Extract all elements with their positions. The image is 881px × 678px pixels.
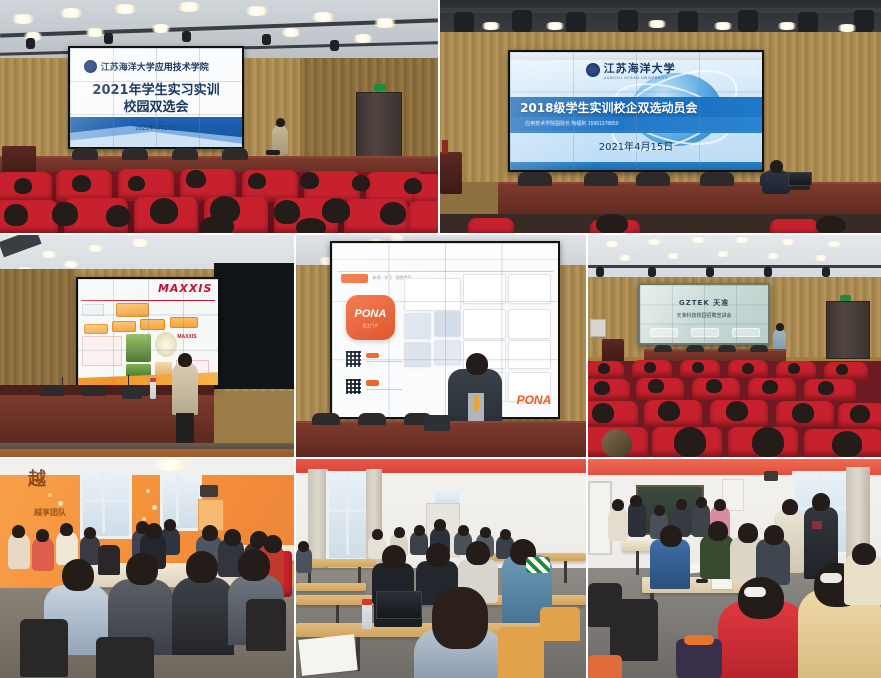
chair [588,583,622,627]
exit-sign-icon [374,84,386,91]
photo-tile-4: 新闻 · 学习 · 视频专区 PONA 员工门户 [296,235,586,457]
presentation-screen-1: 江苏海洋大学应用技术学院 2021年学生实习实训 校园双选会 2021年4月17… [68,46,244,149]
projector [200,485,218,497]
slide-2: 江苏海洋大学 JIANGSU OCEAN UNIVERSITY 2018级学生实… [510,52,762,170]
presentation-screen-2: 江苏海洋大学 JIANGSU OCEAN UNIVERSITY 2018级学生实… [508,50,764,172]
presenter-3 [172,363,198,415]
chair [96,637,154,678]
presentation-screen-3: MAXXIS MAXXIS [76,277,220,387]
seated-speaker-2 [762,170,790,194]
photo-tile-7 [296,459,586,678]
chair [20,619,68,677]
photo-collage: 江苏海洋大学应用技术学院 2021年学生实习实训 校园双选会 2021年4月17… [0,0,881,678]
slide-1: 江苏海洋大学应用技术学院 2021年学生实习实训 校园双选会 2021年4月17… [70,48,242,147]
exit-sign-icon [840,295,851,301]
photo-tile-1: 江苏海洋大学应用技术学院 2021年学生实习实训 校园双选会 2021年4月17… [0,0,438,233]
slide-5: GZTEK 天准 天准科技校园招聘宣讲会 [640,285,768,343]
chair [246,599,286,651]
photo-tile-6: 越 越享团队 [0,459,294,678]
notebook [298,634,357,676]
photo-tile-2: 江苏海洋大学 JIANGSU OCEAN UNIVERSITY 2018级学生实… [440,0,881,233]
presentation-screen-5: GZTEK 天准 天准科技校园招聘宣讲会 [638,283,770,345]
water-bottle [362,603,372,629]
slide-4: 新闻 · 学习 · 视频专区 PONA 员工门户 [332,243,558,417]
photo-tile-3: MAXXIS MAXXIS [0,235,294,457]
auditorium-door [826,301,870,359]
water-bottle [150,381,156,399]
wall-character: 越 [28,465,46,491]
photo-tile-5: GZTEK 天准 天准科技校园招聘宣讲会 [588,235,881,457]
chair [498,627,544,678]
presentation-screen-4: 新闻 · 学习 · 视频专区 PONA 员工门户 [330,241,560,419]
photo-tile-8 [588,459,881,678]
